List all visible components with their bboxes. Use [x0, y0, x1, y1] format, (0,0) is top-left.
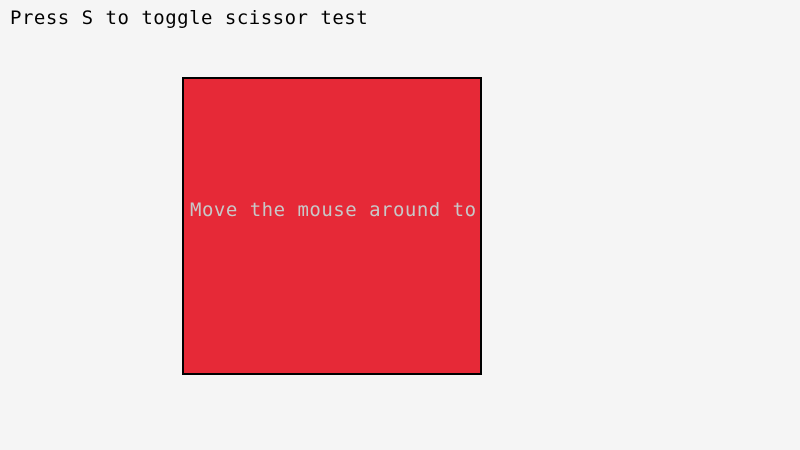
instruction-label: Press S to toggle scissor test [10, 8, 368, 28]
clipped-message-text: Move the mouse around to reveal parts of… [190, 200, 482, 220]
application-canvas[interactable]: Press S to toggle scissor test Move the … [0, 0, 800, 450]
scissor-region[interactable]: Move the mouse around to reveal parts of… [182, 77, 482, 375]
